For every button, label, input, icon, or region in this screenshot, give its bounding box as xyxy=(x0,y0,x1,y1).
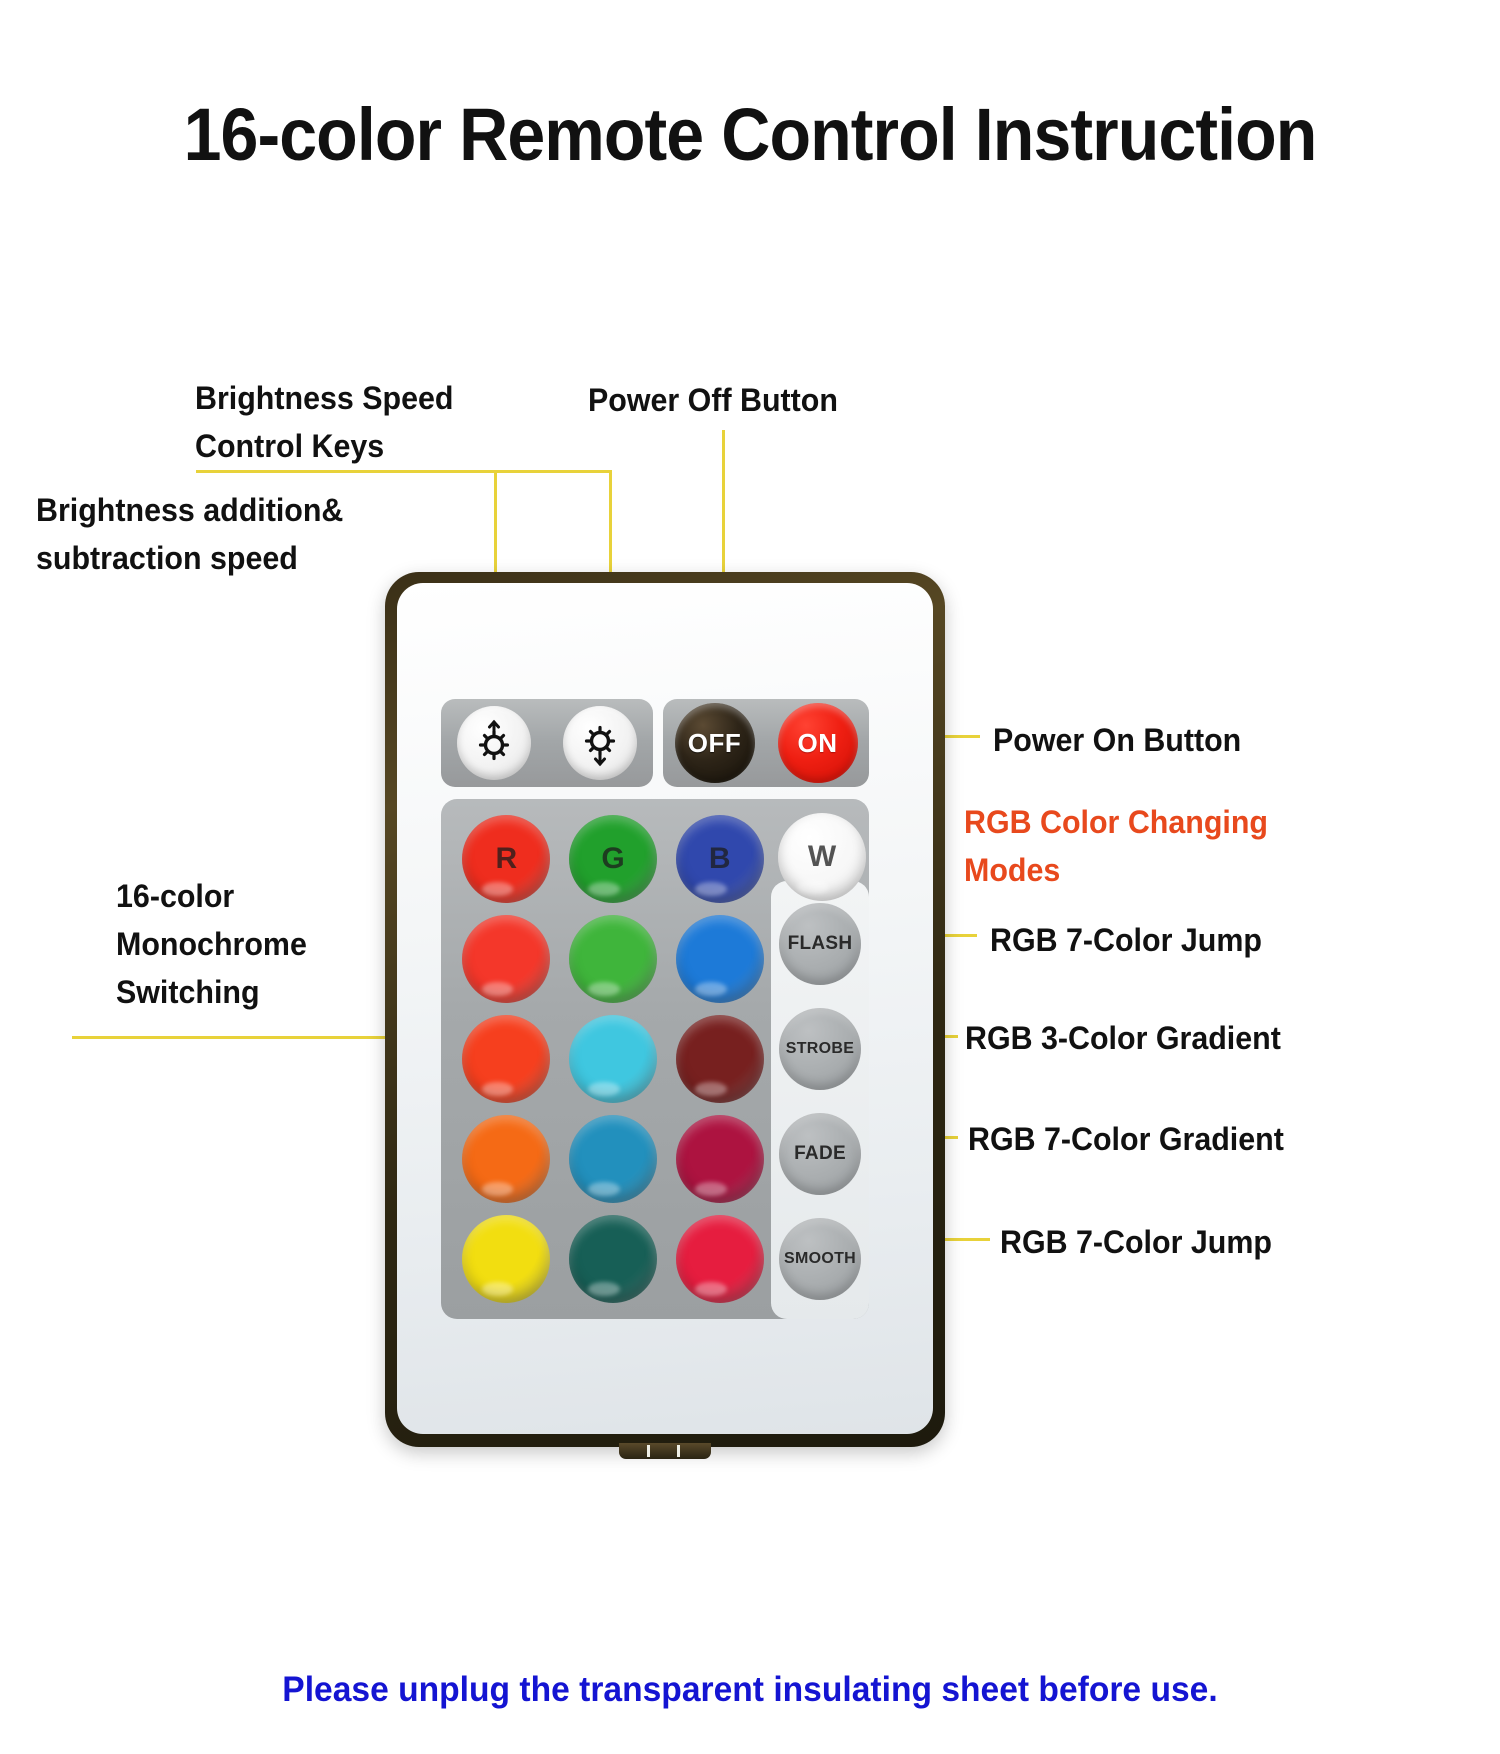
color-button[interactable]: G xyxy=(569,815,657,903)
white-button-label: W xyxy=(808,840,836,874)
color-button[interactable] xyxy=(676,1215,764,1303)
remote-control: OFF ON RGB W FLASHSTROBEFADESMOOTH xyxy=(385,572,945,1447)
annotation-strobe: RGB 3-Color Gradient xyxy=(965,1014,1412,1062)
color-button[interactable] xyxy=(462,1115,550,1203)
power-on-label: ON xyxy=(798,728,838,759)
color-button[interactable]: R xyxy=(462,815,550,903)
brightness-down-button[interactable] xyxy=(563,706,637,780)
mode-button-label: FADE xyxy=(794,1143,846,1165)
annotation-power-on: Power On Button xyxy=(993,716,1392,764)
white-color-button[interactable]: W xyxy=(778,813,866,901)
leader-line-brightness-bracket xyxy=(196,470,612,473)
sun-down-icon xyxy=(576,719,624,767)
color-button[interactable] xyxy=(462,1215,550,1303)
power-off-button[interactable]: OFF xyxy=(675,703,755,783)
annotation-smooth: RGB 7-Color Jump xyxy=(1000,1218,1418,1266)
color-button-grid: RGB xyxy=(453,809,773,1309)
brightness-key-plate xyxy=(441,699,653,787)
mode-button-label: SMOOTH xyxy=(784,1250,856,1268)
color-button[interactable] xyxy=(569,1215,657,1303)
color-grid-plate: RGB W FLASHSTROBEFADESMOOTH xyxy=(441,799,869,1319)
leader-line-brightness-add-sub xyxy=(196,470,200,473)
annotation-rgb-modes: RGB Color Changing Modes xyxy=(964,798,1363,894)
color-button[interactable]: B xyxy=(676,815,764,903)
brightness-up-button[interactable] xyxy=(457,706,531,780)
color-button[interactable] xyxy=(569,1015,657,1103)
strobe-button[interactable]: STROBE xyxy=(779,1008,861,1090)
color-button-label: B xyxy=(709,842,731,876)
page-title: 16-color Remote Control Instruction xyxy=(60,92,1440,177)
remote-face: OFF ON RGB W FLASHSTROBEFADESMOOTH xyxy=(397,583,933,1434)
color-button[interactable] xyxy=(462,1015,550,1103)
color-button[interactable] xyxy=(569,1115,657,1203)
color-button[interactable] xyxy=(676,1015,764,1103)
color-button-label: G xyxy=(601,842,624,876)
power-off-label: OFF xyxy=(688,728,742,759)
color-button[interactable] xyxy=(676,915,764,1003)
color-button-label: R xyxy=(495,842,517,876)
power-key-plate: OFF ON xyxy=(663,699,869,787)
mode-button-label: STROBE xyxy=(786,1040,854,1058)
annotation-power-off: Power Off Button xyxy=(588,376,949,424)
annotation-fade: RGB 7-Color Gradient xyxy=(968,1115,1415,1163)
mode-button-label: FLASH xyxy=(788,933,853,955)
remote-insulating-sheet xyxy=(619,1443,711,1459)
color-button[interactable] xyxy=(676,1115,764,1203)
power-on-button[interactable]: ON xyxy=(778,703,858,783)
annotation-brightness-speed: Brightness Speed Control Keys xyxy=(195,374,594,470)
flash-button[interactable]: FLASH xyxy=(779,903,861,985)
mode-button-column: FLASHSTROBEFADESMOOTH xyxy=(777,891,863,1311)
footer-note: Please unplug the transparent insulating… xyxy=(30,1670,1470,1710)
fade-button[interactable]: FADE xyxy=(779,1113,861,1195)
annotation-flash: RGB 7-Color Jump xyxy=(990,916,1399,964)
color-button[interactable] xyxy=(462,915,550,1003)
annotation-brightness-add-sub: Brightness addition& subtraction speed xyxy=(36,486,473,582)
sun-up-icon xyxy=(470,719,518,767)
color-button[interactable] xyxy=(569,915,657,1003)
smooth-button[interactable]: SMOOTH xyxy=(779,1218,861,1300)
